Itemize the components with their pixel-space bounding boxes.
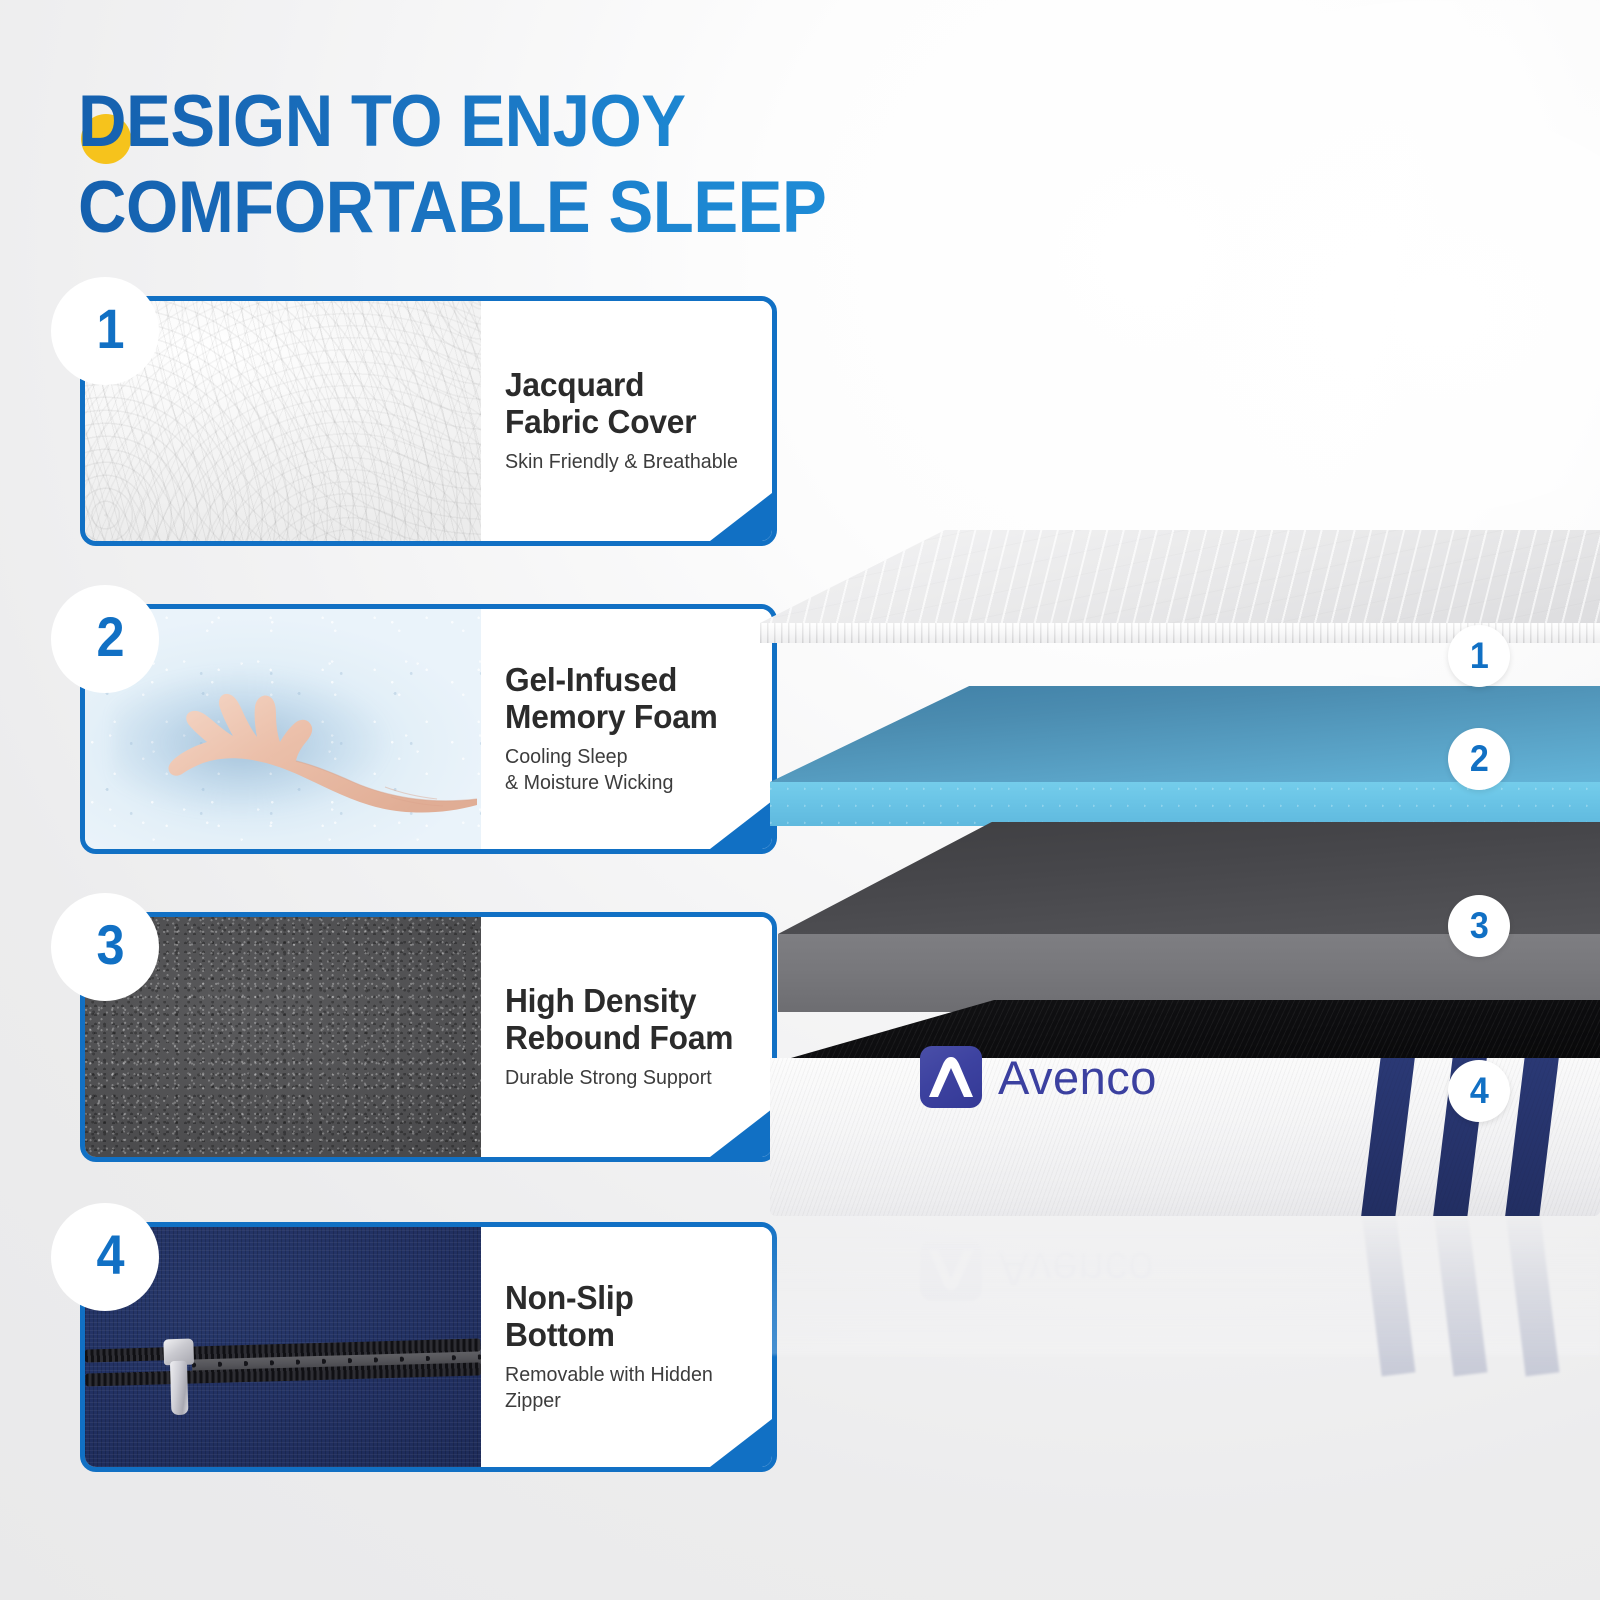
feature-number-1: 1 (97, 301, 125, 357)
layer-marker-3-label: 3 (1470, 907, 1489, 944)
feature-text-panel-3: High Density Rebound Foam Durable Strong… (481, 917, 772, 1157)
feature-title-1: Jacquard Fabric Cover (505, 367, 744, 441)
feature-subtitle-2-line1: Cooling Sleep (505, 744, 744, 770)
feature-text-panel-1: Jacquard Fabric Cover Skin Friendly & Br… (481, 301, 772, 541)
feature-text-panel-2: Gel-Infused Memory Foam Cooling Sleep & … (481, 609, 772, 849)
feature-title-3: High Density Rebound Foam (505, 983, 744, 1057)
layer-marker-1: 1 (1448, 625, 1510, 687)
layer-marker-1-label: 1 (1470, 637, 1489, 674)
page-title: DESIGN TO ENJOY COMFORTABLE SLEEP (78, 86, 1058, 245)
layer-marker-4-label: 4 (1470, 1072, 1489, 1109)
title-line-1: DESIGN TO ENJOY (78, 86, 980, 158)
corner-triangle-icon (710, 1419, 772, 1467)
feature-text-panel-4: Non-Slip Bottom Removable with Hidden Zi… (481, 1227, 772, 1467)
feature-card-1[interactable]: Jacquard Fabric Cover Skin Friendly & Br… (80, 296, 777, 546)
feature-subtitle-1: Skin Friendly & Breathable (505, 449, 744, 475)
title-line-2: COMFORTABLE SLEEP (78, 172, 980, 244)
navy-stripe (1501, 1058, 1560, 1216)
layer-marker-2: 2 (1448, 728, 1510, 790)
feature-subtitle-2-line2: & Moisture Wicking (505, 770, 744, 796)
zipper-pull-icon (164, 1338, 196, 1417)
feature-subtitle-3: Durable Strong Support (505, 1065, 744, 1091)
layer-marker-3: 3 (1448, 895, 1510, 957)
avenco-wordmark: Avenco (998, 1050, 1157, 1105)
feature-card-4[interactable]: Non-Slip Bottom Removable with Hidden Zi… (80, 1222, 777, 1472)
feature-number-2: 2 (97, 609, 125, 665)
feature-number-badge-1: 1 (51, 277, 159, 385)
avenco-mark-icon (920, 1046, 982, 1108)
feature-number-badge-3: 3 (51, 893, 159, 1001)
feature-number-3: 3 (97, 917, 125, 973)
layer-marker-4: 4 (1448, 1060, 1510, 1122)
feature-subtitle-4: Removable with Hidden Zipper (505, 1362, 744, 1413)
feature-card-2[interactable]: Gel-Infused Memory Foam Cooling Sleep & … (80, 604, 777, 854)
navy-stripe (1357, 1058, 1416, 1216)
infographic-canvas: DESIGN TO ENJOY COMFORTABLE SLEEP Jacqua… (0, 0, 1600, 1600)
feature-number-badge-4: 4 (51, 1203, 159, 1311)
feature-number-4: 4 (97, 1227, 125, 1283)
feature-title-2: Gel-Infused Memory Foam (505, 662, 744, 736)
avenco-logo: Avenco (920, 1046, 1157, 1108)
feature-number-badge-2: 2 (51, 585, 159, 693)
feature-card-3[interactable]: High Density Rebound Foam Durable Strong… (80, 912, 777, 1162)
feature-title-4: Non-Slip Bottom (505, 1280, 744, 1354)
layer-marker-2-label: 2 (1470, 740, 1489, 777)
